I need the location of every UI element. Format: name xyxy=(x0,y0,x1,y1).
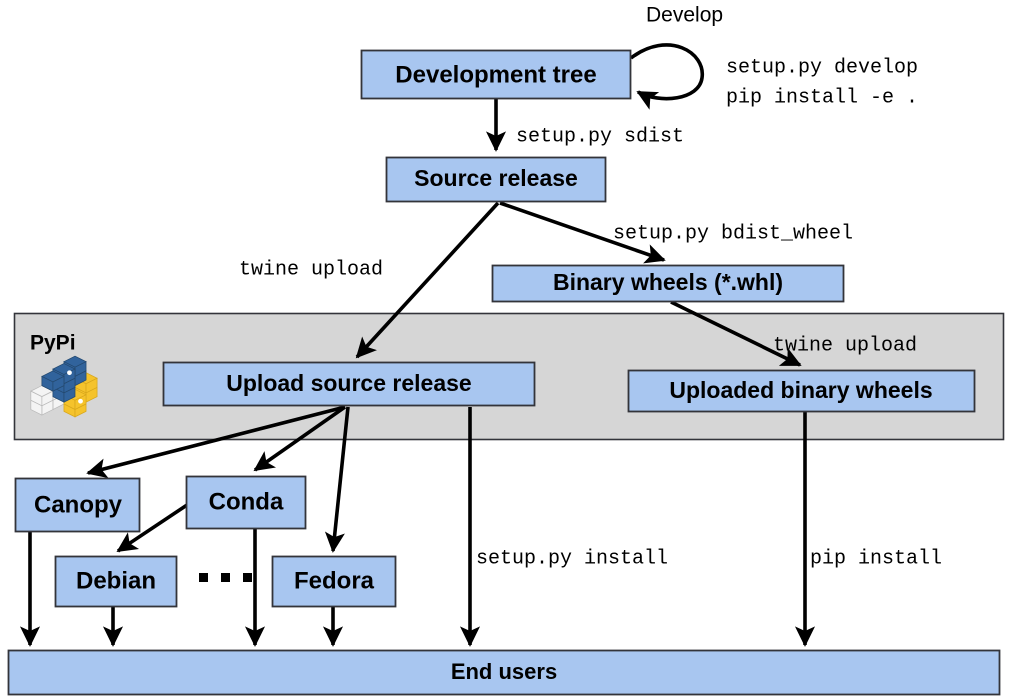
node-conda[interactable]: Conda xyxy=(187,477,306,529)
label-develop: Develop xyxy=(646,4,723,27)
node-uploaded-binary-wheels-label: Uploaded binary wheels xyxy=(669,377,932,403)
node-fedora[interactable]: Fedora xyxy=(273,557,396,607)
node-upload-source-release-label: Upload source release xyxy=(226,370,471,396)
pypi-group-label: PyPi xyxy=(30,332,76,355)
label-pip-install-editable: pip install -e . xyxy=(726,86,918,109)
node-end-users[interactable]: End users xyxy=(9,651,1000,695)
node-conda-label: Conda xyxy=(209,488,284,515)
node-binary-wheels[interactable]: Binary wheels (*.whl) xyxy=(493,266,844,302)
ellipsis-dots xyxy=(199,573,252,582)
diagram-canvas: PyPi xyxy=(0,0,1009,698)
node-source-release[interactable]: Source release xyxy=(387,158,606,202)
node-source-release-label: Source release xyxy=(414,165,578,191)
node-fedora-label: Fedora xyxy=(294,567,375,594)
node-development-tree-label: Development tree xyxy=(395,61,596,88)
node-debian[interactable]: Debian xyxy=(56,557,177,607)
label-pip-install: pip install xyxy=(810,547,942,570)
node-development-tree[interactable]: Development tree xyxy=(362,51,631,99)
node-debian-label: Debian xyxy=(76,567,156,594)
node-uploaded-binary-wheels[interactable]: Uploaded binary wheels xyxy=(629,371,975,412)
arrow-develop-loop xyxy=(631,45,702,99)
node-upload-source-release[interactable]: Upload source release xyxy=(164,363,535,406)
label-twine-upload-wheels: twine upload xyxy=(773,334,917,357)
node-end-users-label: End users xyxy=(451,659,557,684)
packaging-flow-diagram: PyPi xyxy=(0,0,1009,698)
label-setup-py-sdist: setup.py sdist xyxy=(516,125,684,148)
label-setup-py-develop: setup.py develop xyxy=(726,56,918,79)
label-setup-py-bdist-wheel: setup.py bdist_wheel xyxy=(613,222,853,245)
label-setup-py-install: setup.py install xyxy=(476,547,668,570)
node-canopy-label: Canopy xyxy=(34,491,123,518)
node-binary-wheels-label: Binary wheels (*.whl) xyxy=(553,269,783,295)
label-twine-upload-source: twine upload xyxy=(239,258,383,281)
node-canopy[interactable]: Canopy xyxy=(16,479,140,532)
